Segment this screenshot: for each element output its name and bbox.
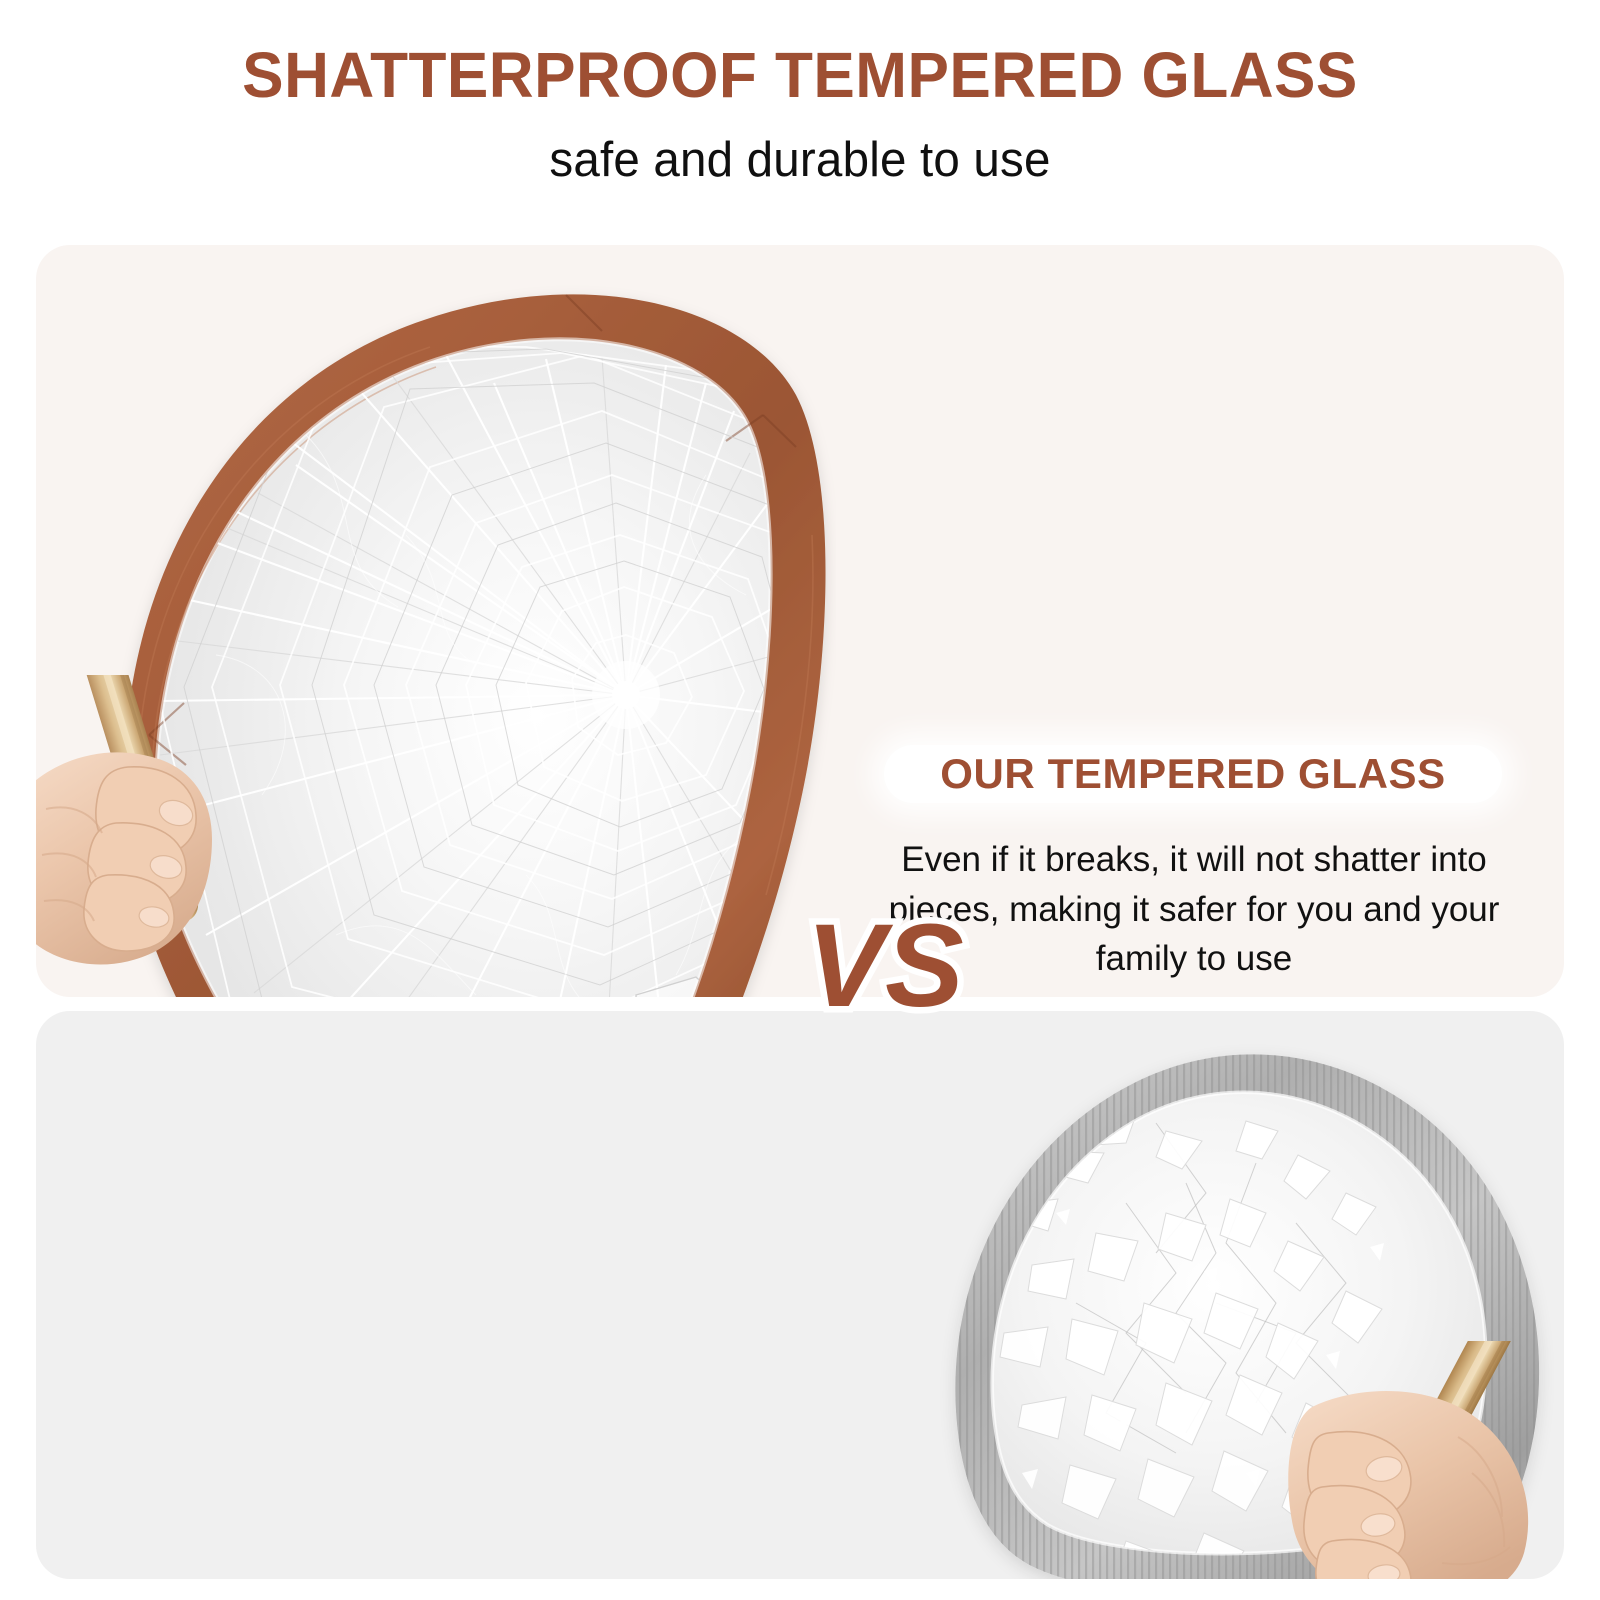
- our-tempered-glass-badge: OUR TEMPERED GLASS: [884, 745, 1502, 803]
- page-title: SHATTERPROOF TEMPERED GLASS: [24, 42, 1576, 109]
- header: SHATTERPROOF TEMPERED GLASS safe and dur…: [0, 0, 1600, 240]
- hand-with-sledgehammer-top: [36, 675, 346, 997]
- our-tempered-glass-badge-label: OUR TEMPERED GLASS: [940, 750, 1446, 798]
- infographic-page: SHATTERPROOF TEMPERED GLASS safe and dur…: [0, 0, 1600, 1600]
- page-subtitle: safe and durable to use: [24, 132, 1576, 188]
- hand: [1288, 1391, 1528, 1579]
- hand: [36, 752, 212, 964]
- tempered-glass-panel: OUR TEMPERED GLASS Even if it breaks, it…: [36, 245, 1564, 997]
- ordinary-glass-panel: OTHER ORDINARY GLASS Other's glass mirro…: [36, 1011, 1564, 1579]
- hand-with-sledgehammer-bottom: [1266, 1341, 1564, 1579]
- our-tempered-glass-description: Even if it breaks, it will not shatter i…: [884, 835, 1504, 984]
